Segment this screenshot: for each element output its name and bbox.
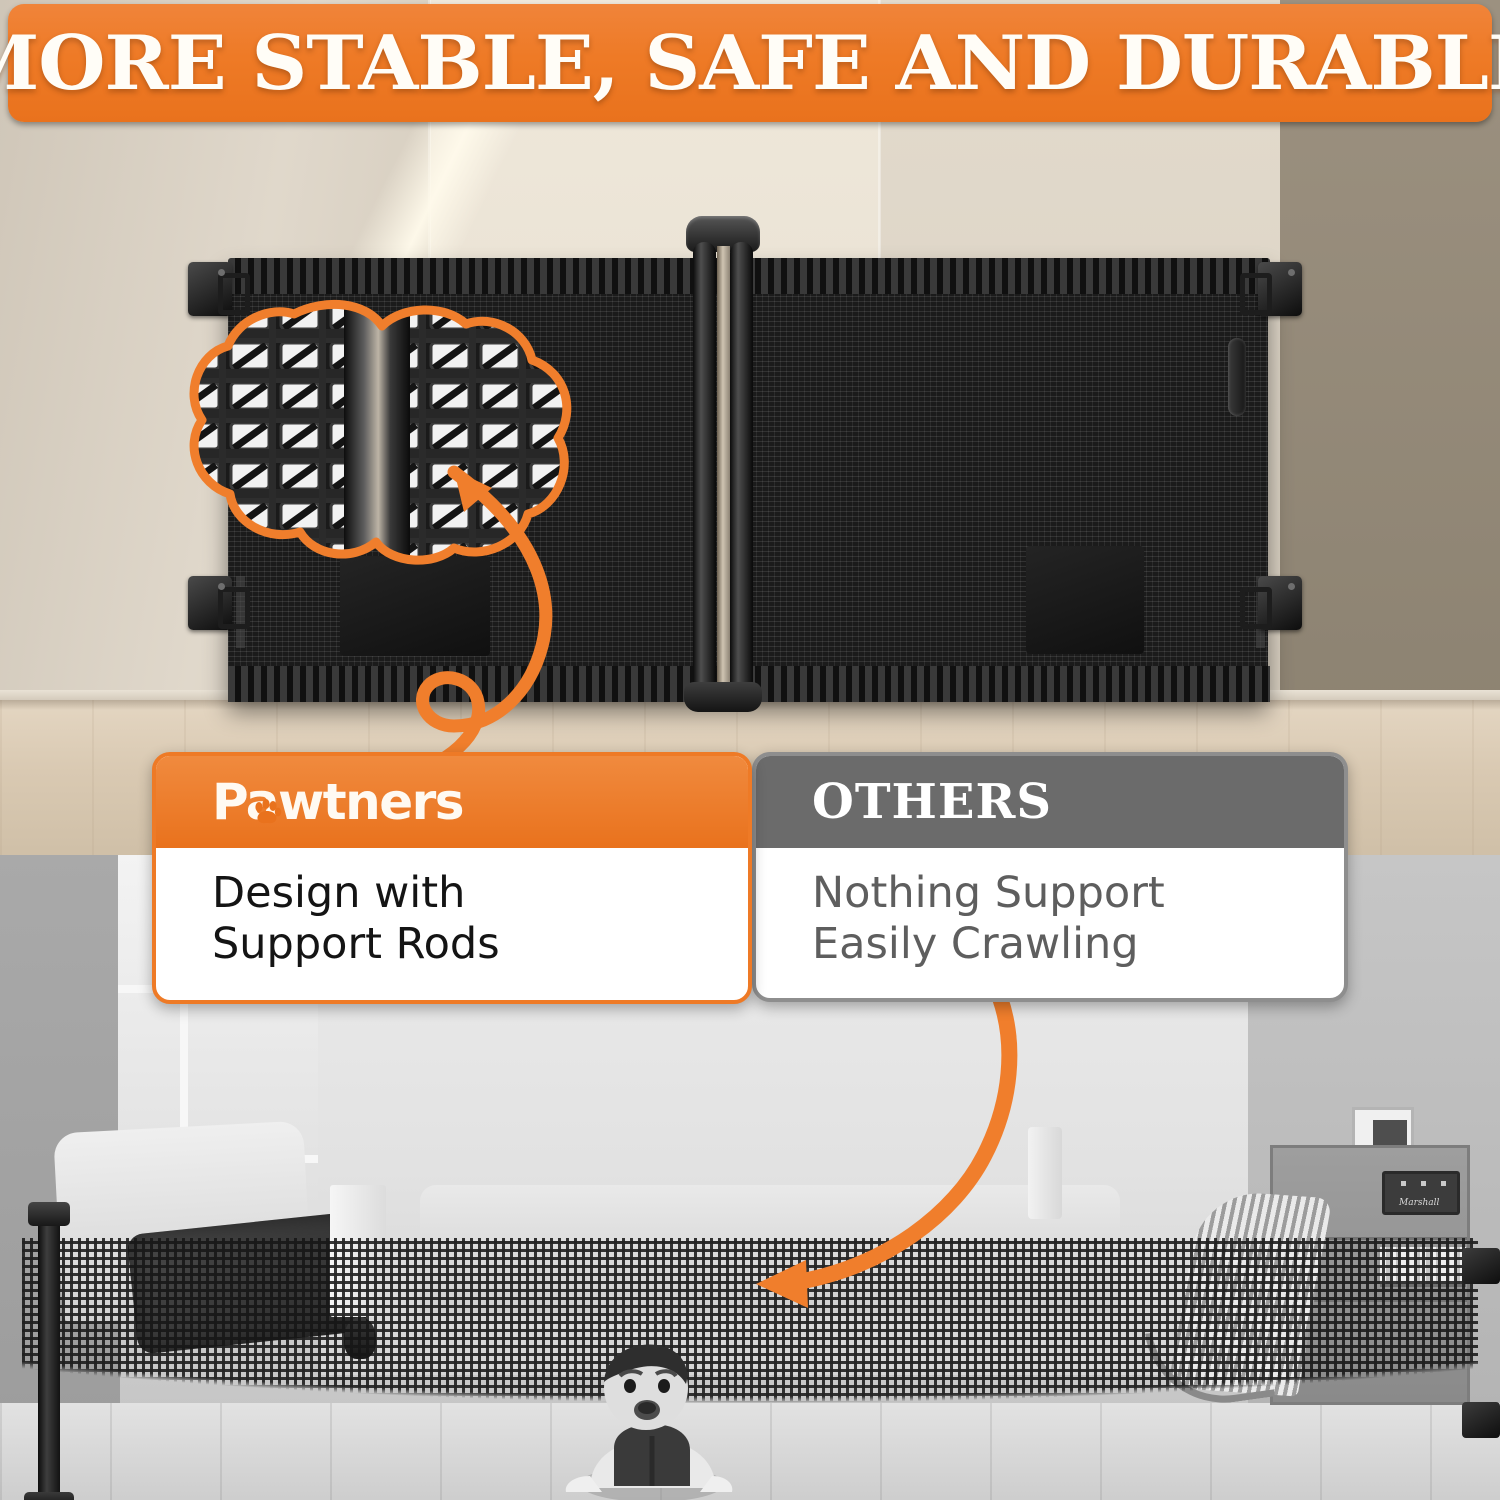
gate-wall-clip-top bbox=[1462, 1248, 1500, 1284]
card-others-body: Nothing Support Easily Crawling bbox=[756, 848, 1344, 969]
header-banner: MORE STABLE, SAFE AND DURABLE bbox=[8, 4, 1492, 122]
brand-name: Pawtners bbox=[212, 773, 463, 831]
comparison-cards: Pawtners Design with Support Rods OTHERS bbox=[0, 752, 1500, 1014]
curly-arrow-pointing-to-support-rod bbox=[380, 420, 710, 790]
gate-edge-handle bbox=[1228, 338, 1246, 416]
card-others-claim: Nothing Support Easily Crawling bbox=[812, 868, 1344, 969]
curly-arrow-pointing-to-gap bbox=[640, 990, 1060, 1320]
top-product-scene bbox=[0, 0, 1500, 855]
card-pawtners-body: Design with Support Rods bbox=[156, 848, 748, 969]
card-others-header: OTHERS bbox=[756, 756, 1344, 848]
gate-panel-patch bbox=[1026, 546, 1144, 654]
rod-gap bbox=[717, 246, 730, 686]
rod-tube-right bbox=[730, 242, 753, 692]
product-infographic: Marshall bbox=[0, 0, 1500, 1500]
card-pawtners-claim: Design with Support Rods bbox=[212, 868, 748, 969]
wall-bracket-bottom-left bbox=[188, 576, 232, 630]
brand-logo-pawtners: Pawtners bbox=[212, 773, 463, 831]
others-label: OTHERS bbox=[812, 774, 1052, 830]
baby-crawling-under-gate bbox=[556, 1336, 736, 1500]
card-pawtners-header: Pawtners bbox=[156, 756, 748, 848]
card-others[interactable]: OTHERS Nothing Support Easily Crawling bbox=[752, 752, 1348, 1002]
card-pawtners[interactable]: Pawtners Design with Support Rods bbox=[152, 752, 752, 1004]
paw-print-icon bbox=[252, 799, 282, 825]
wall-bracket-bottom-right bbox=[1258, 576, 1302, 630]
wall-bracket-top-right bbox=[1258, 262, 1302, 316]
banner-headline: MORE STABLE, SAFE AND DURABLE bbox=[0, 19, 1500, 107]
gate-wall-clip-bottom bbox=[1462, 1402, 1500, 1438]
marshall-speaker: Marshall bbox=[1382, 1171, 1460, 1215]
gate-roller-post-left bbox=[38, 1220, 60, 1498]
